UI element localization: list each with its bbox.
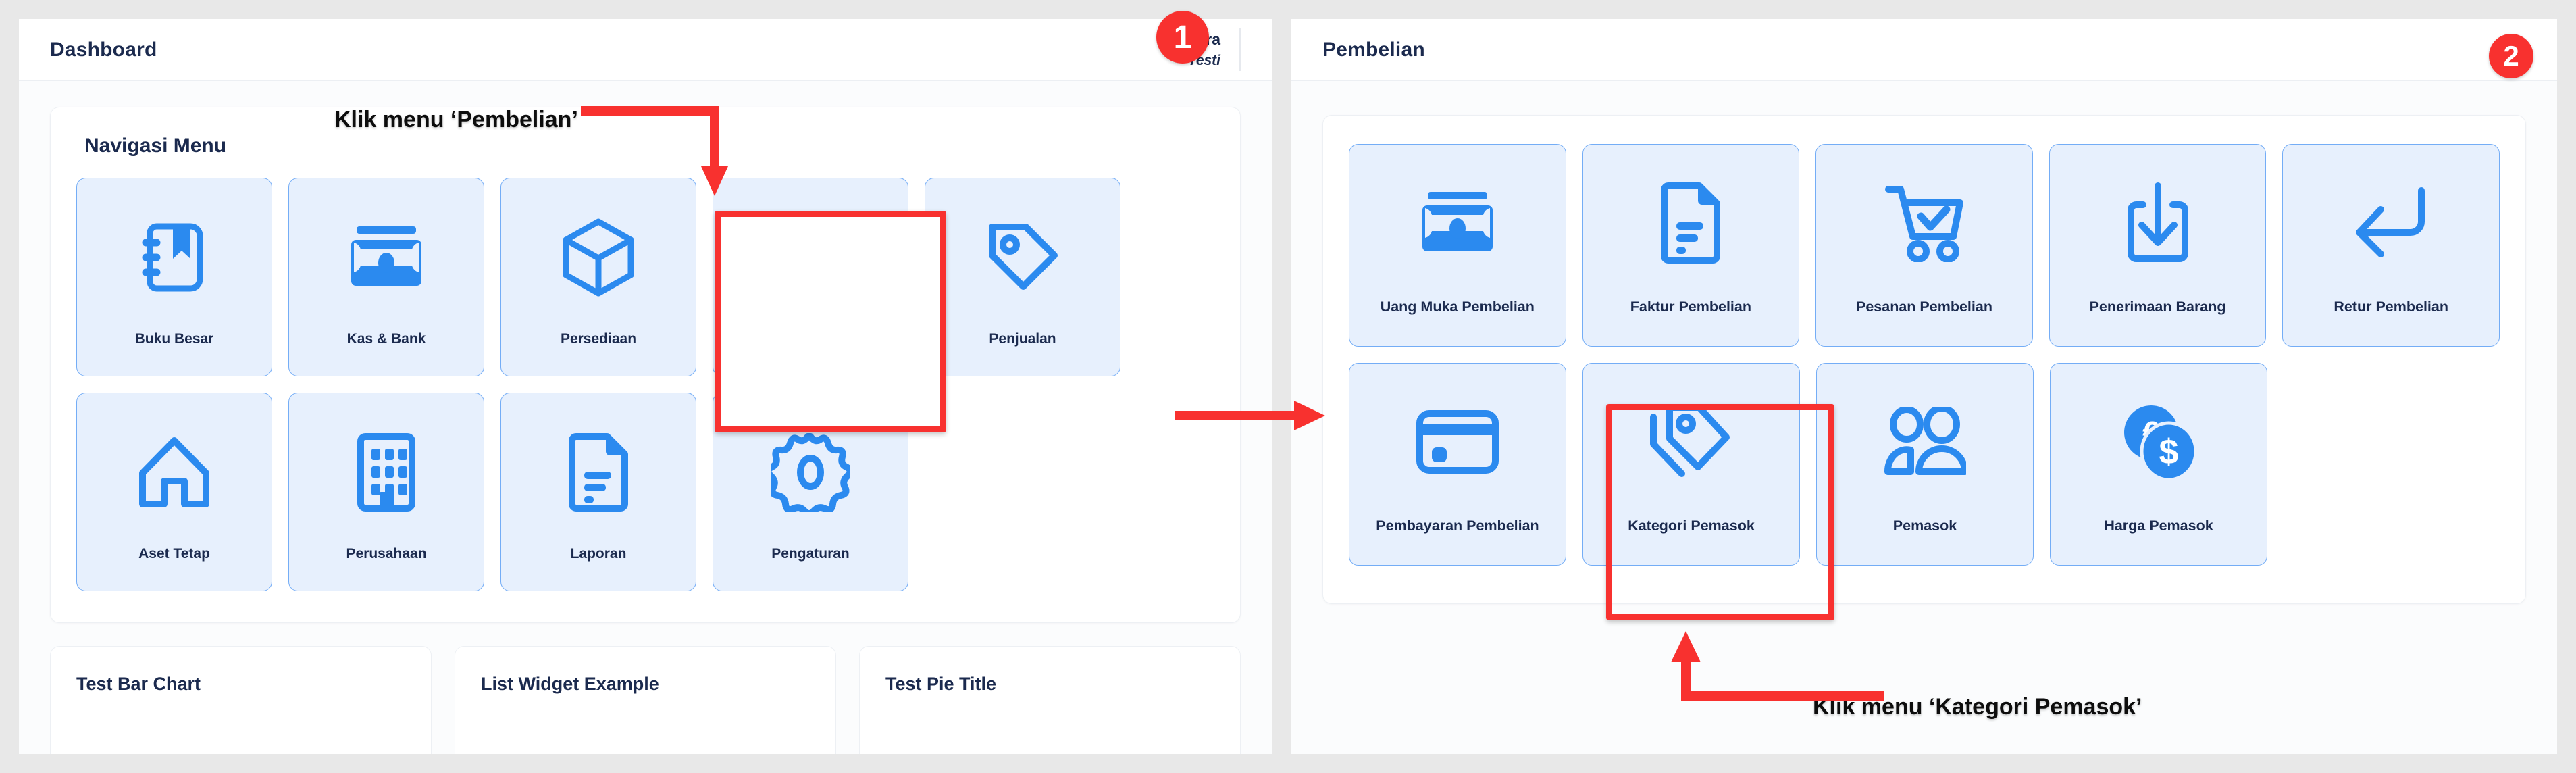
cart-check-icon [1883,172,1965,274]
nav-tile-pengaturan[interactable]: Pengaturan [713,393,908,591]
step-badge-2: 2 [2489,34,2533,78]
download-box-icon [2123,172,2193,274]
tile-label: Pemasok [1817,518,2033,535]
pembelian-topbar: Pembelian [1291,19,2557,81]
page-title: Dashboard [50,39,157,61]
invoice-document-icon [1657,172,1724,274]
nav-tile-label: Kas & Bank [289,330,484,347]
banknote-icon [1418,172,1497,274]
nav-tile-label: Penjualan [925,330,1120,347]
pembelian-body: Uang Muka Pembelian [1291,81,2557,754]
price-tag-icon [984,207,1061,308]
document-lines-icon [565,422,632,523]
nav-tile-perusahaan[interactable]: Perusahaan [288,393,484,591]
dashboard-body: Navigasi Menu Buku Besar [19,81,1272,754]
tile-harga-pemasok[interactable]: € $ Harga Pemasok [2050,363,2267,566]
step-badge-1: 1 [1156,11,1209,64]
pembelian-tile-row-1: Uang Muka Pembelian [1349,144,2500,347]
nav-tile-laporan[interactable]: Laporan [500,393,696,591]
nav-tile-label: Perusahaan [289,545,484,562]
tile-faktur-pembelian[interactable]: Faktur Pembelian [1582,144,1800,347]
nav-tile-row-1: Buku Besar Kas & Bank [76,178,1214,376]
tile-pemasok[interactable]: Pemasok [1816,363,2034,566]
nav-tile-label: Pembelian [713,330,908,347]
dashboard-topbar: Dashboard Indra Testi [19,19,1272,81]
screenshot-stage: Dashboard Indra Testi Navigasi Menu [0,0,2576,773]
nav-tile-penjualan[interactable]: Penjualan [925,178,1120,376]
credit-card-icon [1416,391,1499,493]
nav-tile-label: Laporan [501,545,696,562]
page-title: Pembelian [1322,39,1425,61]
people-icon [1884,391,1966,493]
tile-label: Pesanan Pembelian [1816,299,2032,316]
tile-label: Uang Muka Pembelian [1349,299,1566,316]
nav-tile-label: Buku Besar [77,330,272,347]
widget-card[interactable]: List Widget Example [455,646,836,754]
annotation-label-step-1: Klik menu ‘Pembelian’ [334,107,578,133]
return-arrow-icon [2351,172,2431,274]
dashboard-panel: Dashboard Indra Testi Navigasi Menu [19,19,1272,754]
tile-retur-pembelian[interactable]: Retur Pembelian [2282,144,2500,347]
tile-label: Kategori Pemasok [1583,518,1799,535]
tile-penerimaan-barang[interactable]: Penerimaan Barang [2049,144,2267,347]
nav-tile-label: Persediaan [501,330,696,347]
nav-tile-kas-bank[interactable]: Kas & Bank [288,178,484,376]
widget-card[interactable]: Test Bar Chart [50,646,432,754]
house-icon [136,422,213,523]
widget-title: Test Bar Chart [76,674,405,695]
building-icon [355,422,417,523]
nav-tile-label: Pengaturan [713,545,908,562]
shopping-cart-icon [769,207,852,308]
tile-kategori-pemasok[interactable]: Kategori Pemasok [1582,363,1800,566]
widget-title: List Widget Example [481,674,810,695]
tile-label: Retur Pembelian [2283,299,2499,316]
tile-label: Harga Pemasok [2051,518,2267,535]
nav-tile-row-2: Aset Tetap [76,393,1214,591]
tile-uang-muka-pembelian[interactable]: Uang Muka Pembelian [1349,144,1566,347]
nav-tile-aset-tetap[interactable]: Aset Tetap [76,393,272,591]
pembelian-menu-card: Uang Muka Pembelian [1322,115,2526,604]
tile-pesanan-pembelian[interactable]: Pesanan Pembelian [1815,144,2033,347]
widget-card[interactable]: Test Pie Title [859,646,1241,754]
cube-icon [561,207,636,308]
nav-tile-label: Aset Tetap [77,545,272,562]
navigation-menu-card: Navigasi Menu Buku Besar [50,107,1241,623]
dashboard-widgets: Test Bar Chart List Widget Example Test … [50,646,1241,754]
coins-euro-dollar-icon: € $ [2119,391,2198,493]
pembelian-panel: Pembelian Uang [1291,19,2557,754]
widget-title: Test Pie Title [885,674,1214,695]
double-tag-icon [1649,391,1733,493]
tile-label: Penerimaan Barang [2050,299,2266,316]
gear-icon [771,422,850,523]
tile-pembayaran-pembelian[interactable]: Pembayaran Pembelian [1349,363,1566,566]
annotation-label-step-2: Klik menu ‘Kategori Pemasok’ [1813,694,2142,720]
pembelian-tile-row-2: Pembayaran Pembelian Kategori Pemasok [1349,363,2500,566]
nav-card-title: Navigasi Menu [84,134,1214,157]
tile-label: Pembayaran Pembelian [1349,518,1566,535]
book-bookmark-icon [139,207,209,308]
svg-text:$: $ [2159,432,2179,472]
nav-tile-buku-besar[interactable]: Buku Besar [76,178,272,376]
nav-tile-persediaan[interactable]: Persediaan [500,178,696,376]
banknote-icon [347,207,426,308]
tile-label: Faktur Pembelian [1583,299,1799,316]
nav-tile-pembelian[interactable]: Pembelian [713,178,908,376]
